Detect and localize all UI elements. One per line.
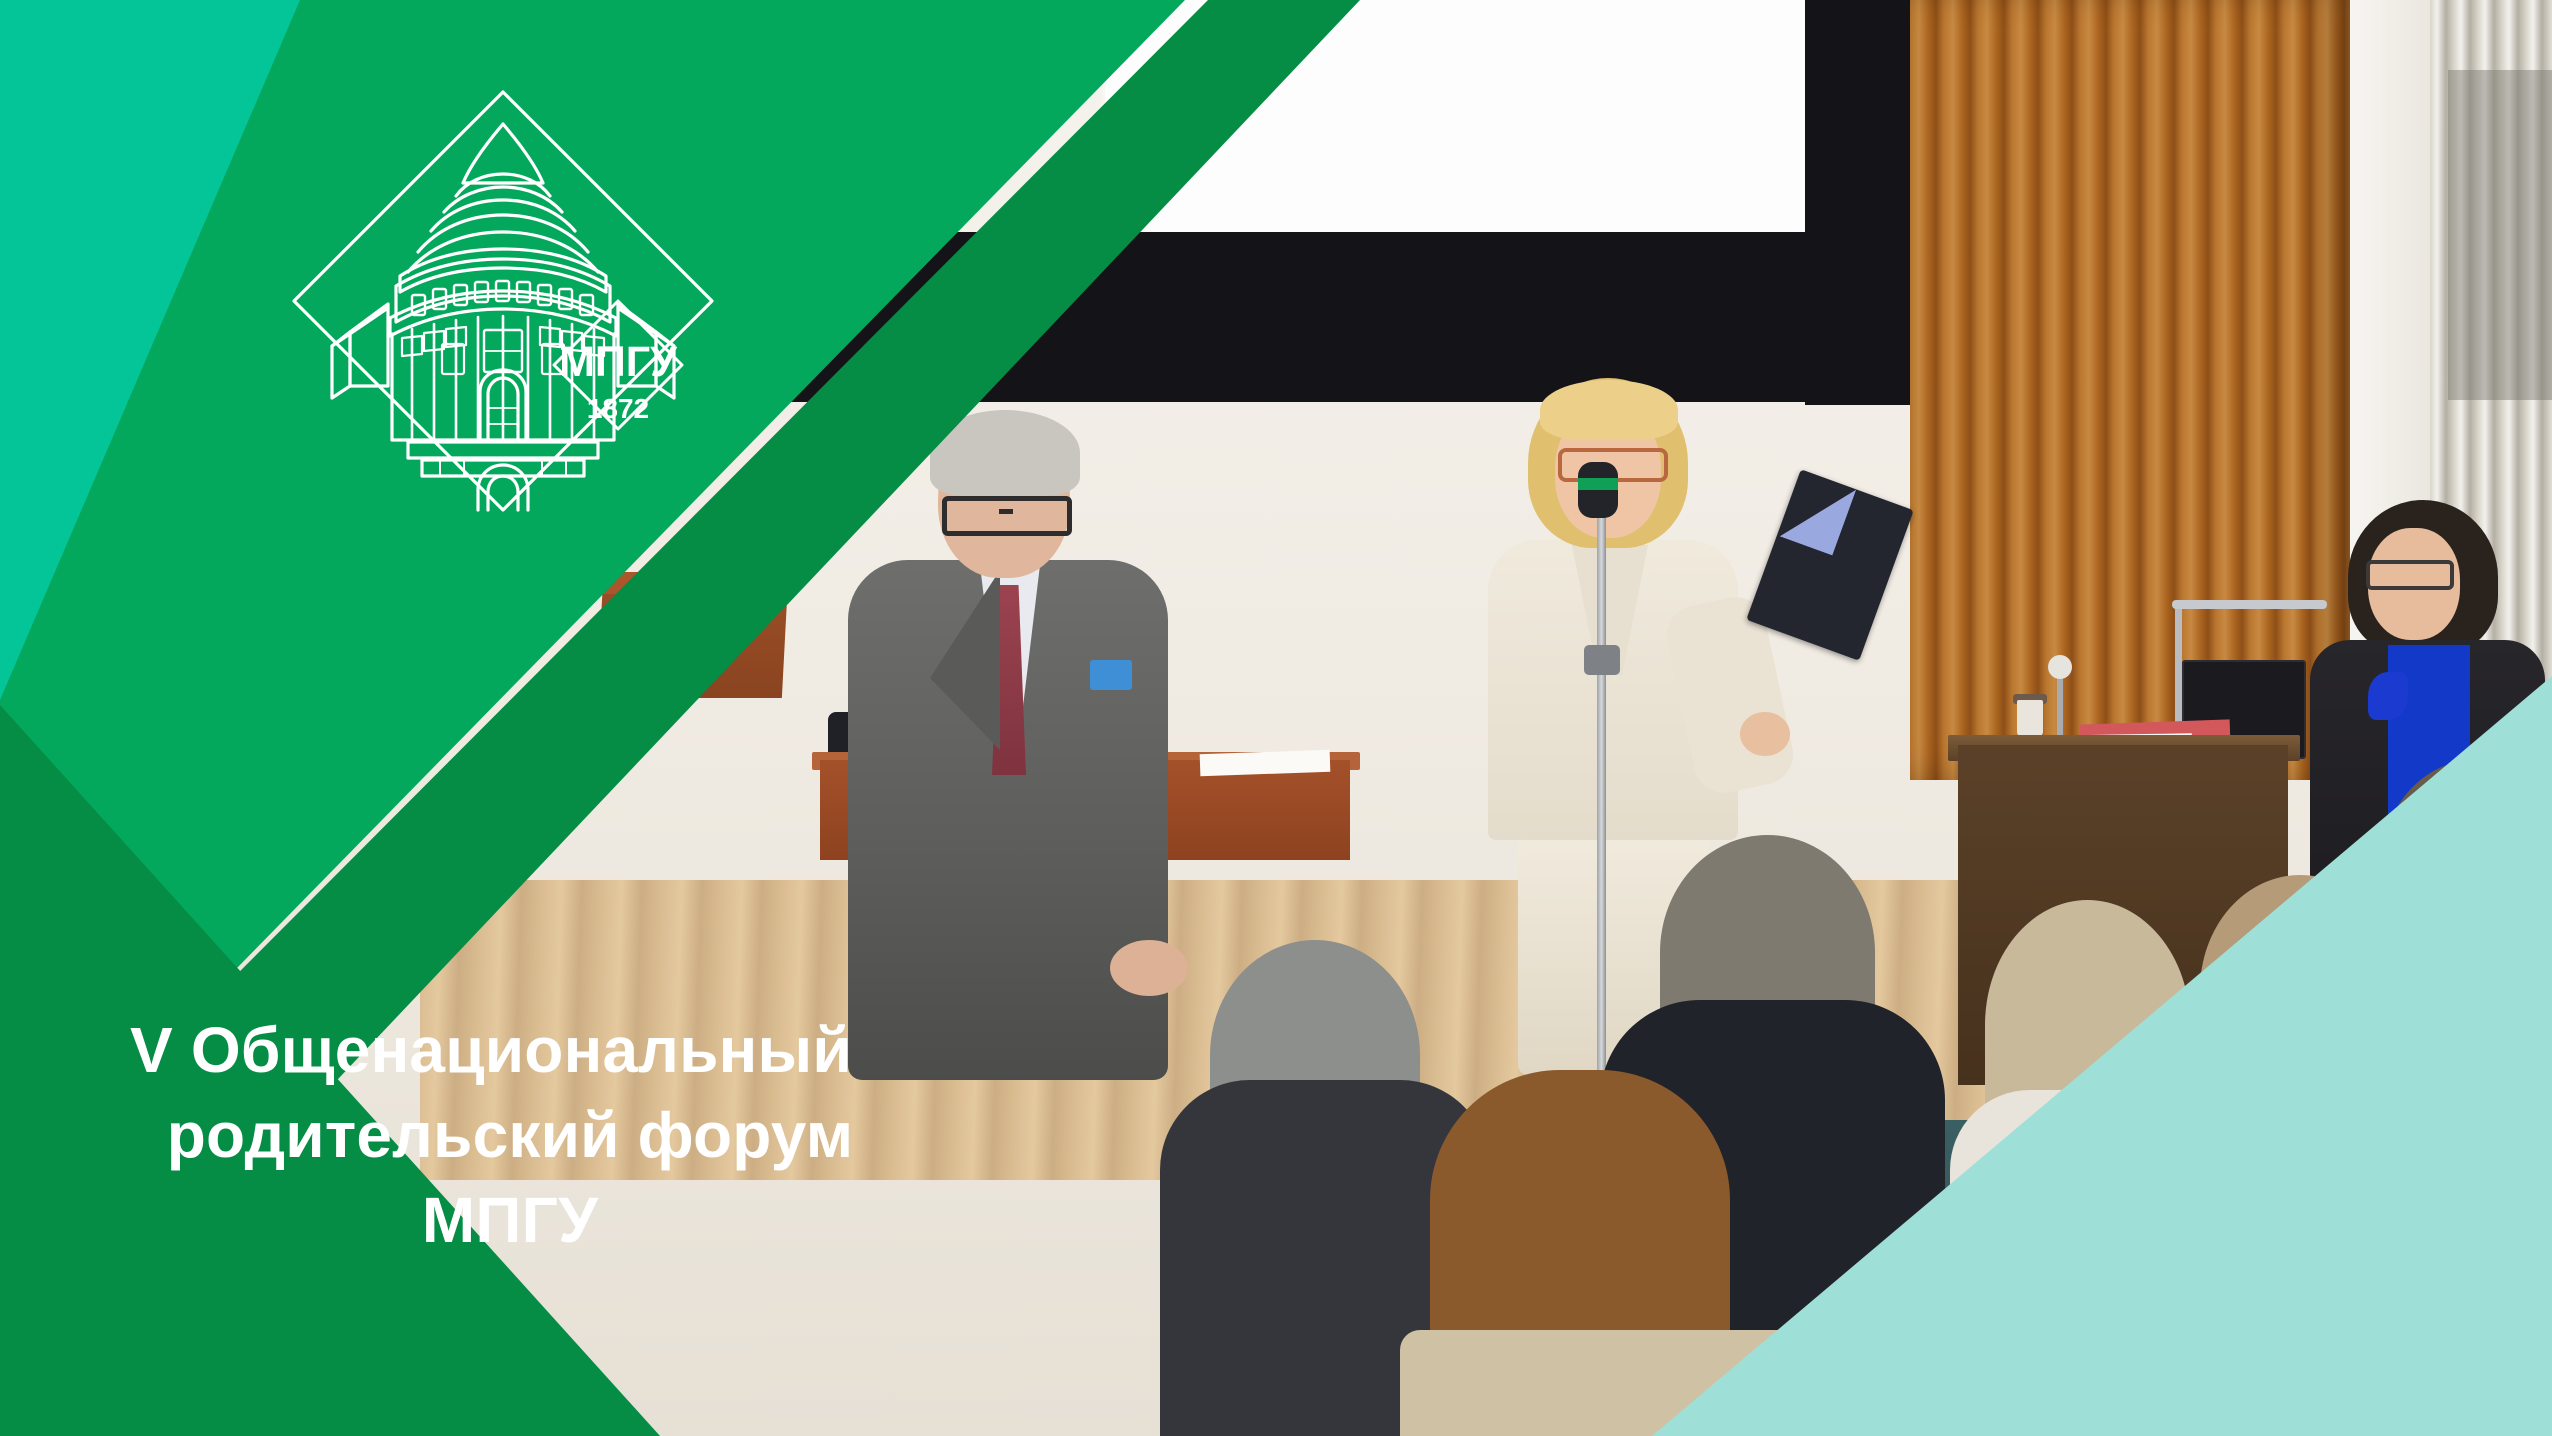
title-line-3: МПГУ <box>100 1178 920 1263</box>
title-line-1: V Общенациональный <box>100 1008 920 1093</box>
poster-title: V Общенациональный родительский форум МП… <box>100 1008 920 1263</box>
mint-triangle <box>1652 676 2552 1436</box>
mpgu-logo: МПГУ 1872 <box>288 86 718 516</box>
logo-year: 1872 <box>587 393 649 424</box>
logo-abbreviation: МПГУ <box>559 338 678 386</box>
event-poster: МПГУ 1872 V Общенациональный родительски… <box>0 0 2552 1436</box>
title-line-2: родительский форум <box>100 1093 920 1178</box>
